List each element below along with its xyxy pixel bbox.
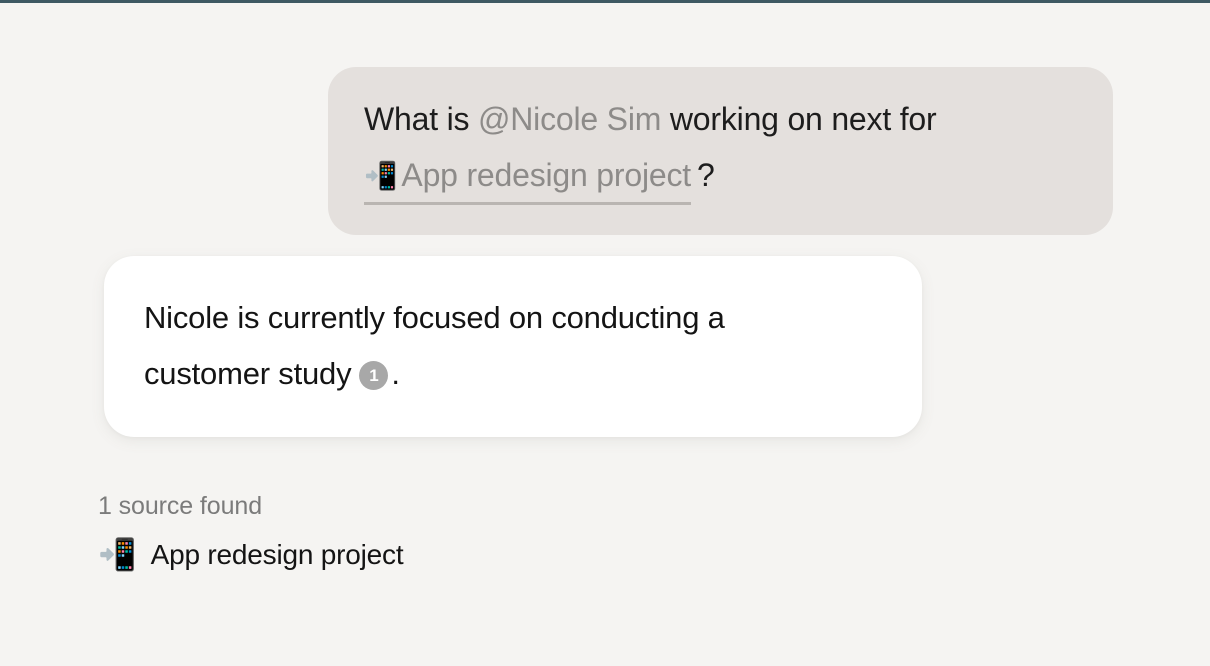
answer-text-period: . (391, 356, 399, 391)
question-line-2: 📲App redesign project? (364, 147, 1077, 205)
user-question-bubble: What is @Nicole Sim working on next for … (328, 67, 1113, 235)
question-trailing-punctuation: ? (697, 157, 715, 193)
entity-chip-label: App redesign project (401, 157, 691, 193)
question-text-suffix: working on next for (661, 101, 936, 137)
source-list-item[interactable]: 📲 App redesign project (98, 539, 403, 571)
top-accent-bar (0, 0, 1210, 3)
answer-text-main: Nicole is currently focused on conductin… (144, 300, 725, 391)
mobile-phone-with-arrow-icon: 📲 (364, 161, 397, 192)
entity-chip-app-redesign-project[interactable]: 📲App redesign project (364, 152, 691, 205)
mention-chip-nicole-sim[interactable]: @Nicole Sim (478, 101, 661, 137)
answer-text: Nicole is currently focused on conductin… (144, 290, 744, 402)
source-item-label: App redesign project (151, 539, 404, 571)
question-text-prefix: What is (364, 101, 478, 137)
sources-heading: 1 source found (98, 492, 798, 521)
sources-section: 1 source found 📲 App redesign project (98, 492, 798, 571)
question-line-1: What is @Nicole Sim working on next for (364, 91, 1077, 147)
answer-card: Nicole is currently focused on conductin… (104, 256, 922, 437)
citation-badge-1[interactable]: 1 (359, 361, 388, 390)
mobile-phone-with-arrow-icon: 📲 (98, 540, 137, 571)
